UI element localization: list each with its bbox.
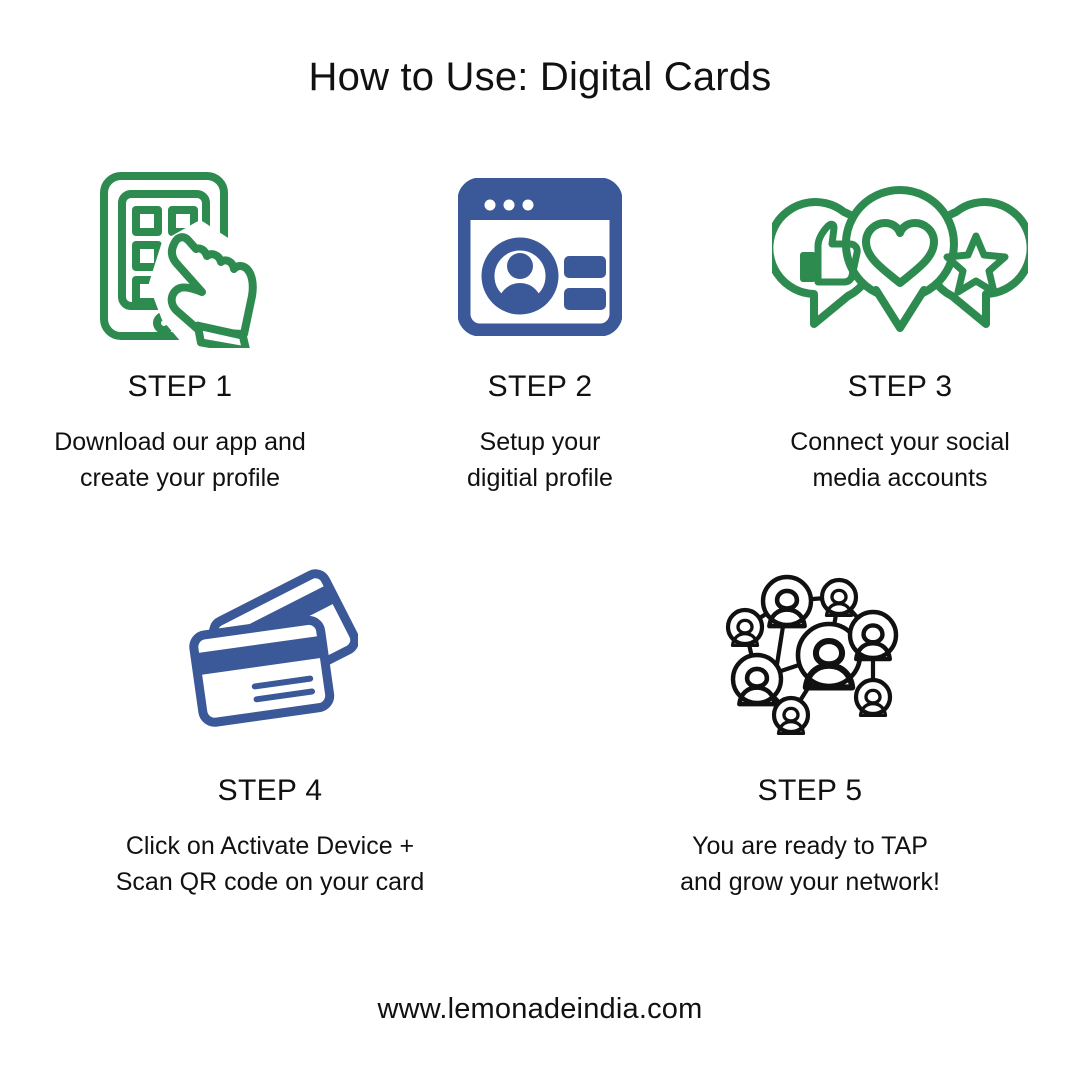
browser-profile-icon bbox=[458, 178, 622, 336]
step-card-4: STEP 4 Click on Activate Device + Scan Q… bbox=[0, 552, 540, 900]
step-2-description: Setup your digitial profile bbox=[467, 425, 613, 496]
step-3-label: STEP 3 bbox=[848, 370, 953, 403]
infographic-page: How to Use: Digital Cards bbox=[0, 0, 1080, 1080]
step-card-2: STEP 2 Setup your digitial profile bbox=[360, 162, 720, 496]
steps-row-top: STEP 1 Download our app and create your … bbox=[0, 162, 1080, 496]
step-card-1: STEP 1 Download our app and create your … bbox=[0, 162, 360, 496]
step-1-description: Download our app and create your profile bbox=[54, 425, 306, 496]
social-bubbles-icon bbox=[772, 182, 1028, 332]
step-1-label: STEP 1 bbox=[128, 370, 233, 403]
info-bar bbox=[564, 288, 606, 310]
page-title: How to Use: Digital Cards bbox=[0, 53, 1080, 101]
step-3-description: Connect your social media accounts bbox=[790, 425, 1010, 496]
step-card-5: STEP 5 You are ready to TAP and grow you… bbox=[540, 552, 1080, 900]
step-3-icon-box bbox=[772, 162, 1028, 352]
step-5-description: You are ready to TAP and grow your netwo… bbox=[680, 829, 940, 900]
footer-website: www.lemonadeindia.com bbox=[0, 993, 1080, 1026]
step-2-icon-box bbox=[458, 162, 622, 352]
credit-cards-icon bbox=[182, 569, 358, 735]
info-bar bbox=[564, 256, 606, 278]
window-dot bbox=[523, 200, 534, 211]
window-dot bbox=[485, 200, 496, 211]
step-4-icon-box bbox=[182, 552, 358, 752]
step-card-3: STEP 3 Connect your social media account… bbox=[720, 162, 1080, 496]
step-2-label: STEP 2 bbox=[488, 370, 593, 403]
phone-tap-icon bbox=[96, 166, 264, 348]
step-4-description: Click on Activate Device + Scan QR code … bbox=[116, 829, 425, 900]
network-nodes bbox=[728, 577, 896, 733]
window-dot bbox=[504, 200, 515, 211]
step-5-label: STEP 5 bbox=[758, 774, 863, 807]
steps-row-bottom: STEP 4 Click on Activate Device + Scan Q… bbox=[0, 552, 1080, 900]
step-4-label: STEP 4 bbox=[218, 774, 323, 807]
step-1-icon-box bbox=[96, 162, 264, 352]
step-5-icon-box bbox=[717, 552, 903, 752]
network-people-icon bbox=[717, 569, 903, 735]
